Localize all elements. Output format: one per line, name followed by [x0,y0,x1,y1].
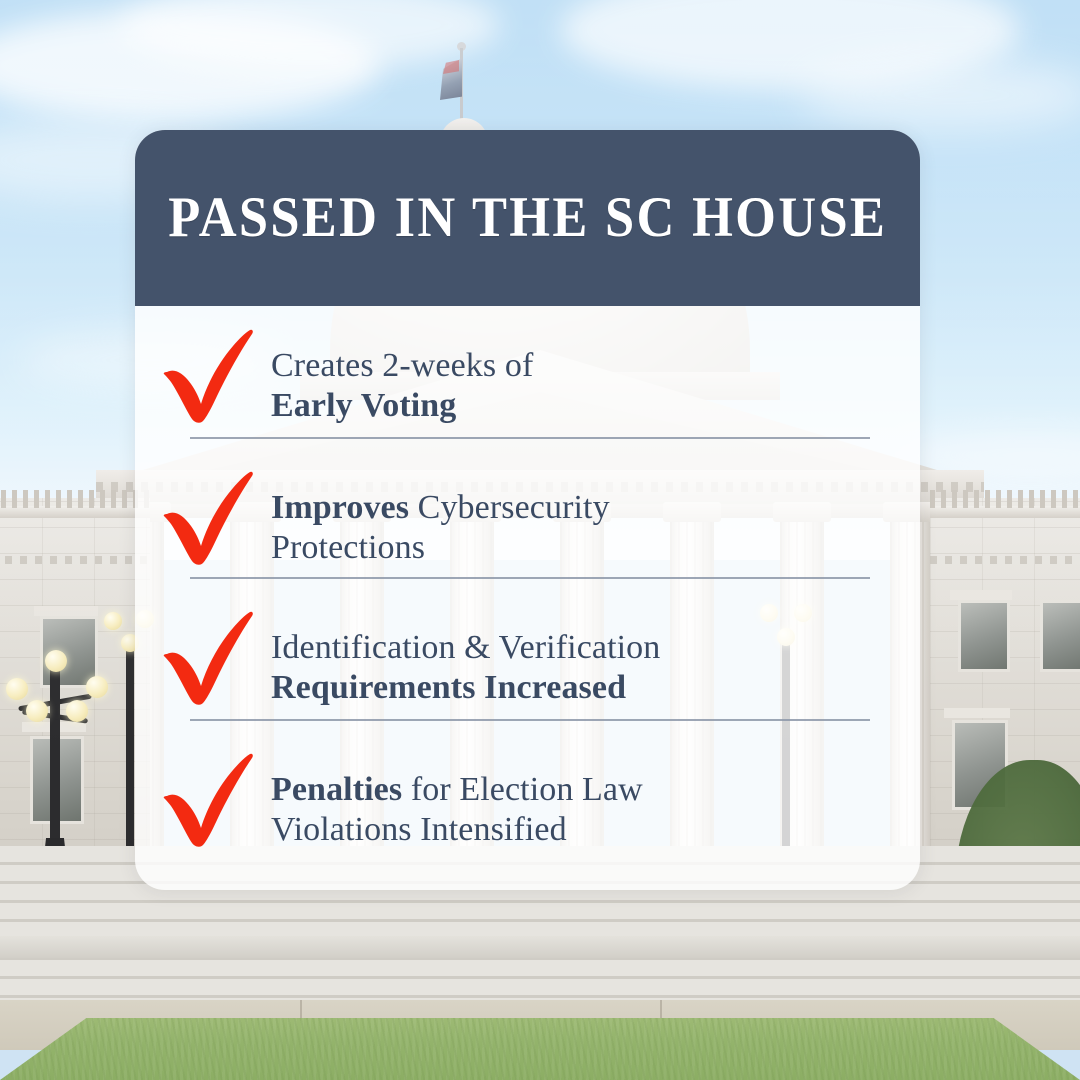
red-checkmark-icon [153,320,271,438]
infographic-canvas: PASSED IN THE SC HOUSE Creates 2-weeks o… [0,0,1080,1080]
list-item: Creates 2-weeks of Early Voting [135,324,920,438]
item-4-line2: Violations Intensified [271,811,567,848]
item-2-line1-bold: Improves [271,489,409,526]
list-item: Identification & Verification Requiremen… [135,606,920,720]
page-title: PASSED IN THE SC HOUSE [168,188,887,248]
item-3-line1: Identification & Verification [271,629,660,666]
list-item-text: Creates 2-weeks of Early Voting [271,324,920,426]
checklist: Creates 2-weeks of Early Voting Improves… [135,306,920,890]
item-4-line1-bold: Penalties [271,771,402,808]
info-card: PASSED IN THE SC HOUSE Creates 2-weeks o… [135,130,920,890]
red-checkmark-icon [153,462,271,580]
card-header-bar: PASSED IN THE SC HOUSE [135,130,920,306]
red-checkmark-icon [153,602,271,720]
list-item: Penalties for Election Law Violations In… [135,748,920,862]
item-4-line1: for Election Law [402,771,643,808]
item-3-line2-bold: Requirements Increased [271,669,626,706]
list-item: Improves Cybersecurity Protections [135,466,920,580]
red-checkmark-icon [153,744,271,862]
list-item-text: Improves Cybersecurity Protections [271,466,920,568]
item-1-line2-bold: Early Voting [271,387,456,424]
list-item-text: Identification & Verification Requiremen… [271,606,920,708]
item-1-line1: Creates 2-weeks of [271,347,533,384]
list-item-text: Penalties for Election Law Violations In… [271,748,920,850]
item-2-line2: Protections [271,529,425,566]
item-2-line1: Cybersecurity [409,489,610,526]
